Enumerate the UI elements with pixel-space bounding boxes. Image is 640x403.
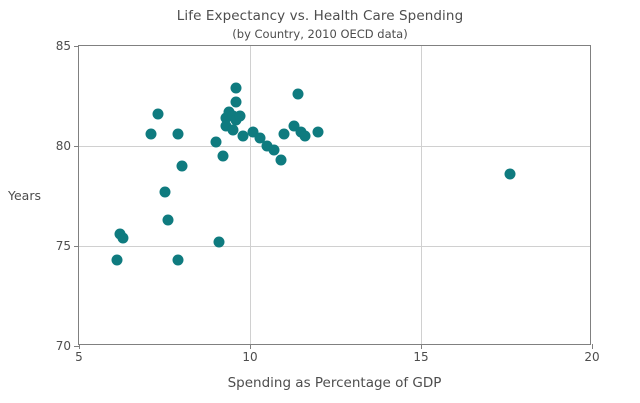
gridline-horizontal	[79, 146, 590, 147]
y-tick-label: 85	[56, 39, 71, 53]
chart-subtitle: (by Country, 2010 OECD data)	[0, 27, 640, 41]
scatter-point	[111, 255, 122, 266]
scatter-point	[214, 237, 225, 248]
scatter-point	[173, 255, 184, 266]
scatter-point	[152, 109, 163, 120]
scatter-point	[231, 97, 242, 108]
scatter-point	[217, 151, 228, 162]
scatter-point	[162, 215, 173, 226]
scatter-point	[118, 233, 129, 244]
x-tick-mark	[592, 344, 593, 349]
scatter-point	[313, 127, 324, 138]
scatter-point	[145, 129, 156, 140]
x-tick-label: 20	[584, 350, 599, 364]
page-title: Life Expectancy vs. Health Care Spending	[0, 8, 640, 24]
gridline-vertical	[250, 46, 251, 344]
scatter-point	[504, 169, 515, 180]
scatter-point	[299, 131, 310, 142]
y-tick-label: 70	[56, 339, 71, 353]
x-tick-mark	[79, 344, 80, 349]
x-tick-mark	[421, 344, 422, 349]
x-tick-label: 5	[75, 350, 83, 364]
x-axis-label: Spending as Percentage of GDP	[78, 375, 591, 391]
x-tick-label: 10	[242, 350, 257, 364]
y-tick-label: 80	[56, 139, 71, 153]
scatter-point	[173, 129, 184, 140]
gridline-vertical	[421, 46, 422, 344]
scatter-point	[159, 187, 170, 198]
scatter-point	[227, 125, 238, 136]
scatter-point	[268, 145, 279, 156]
y-tick-mark	[74, 246, 79, 247]
y-axis-label: Years	[8, 188, 41, 203]
scatter-point	[279, 129, 290, 140]
scatter-point	[275, 155, 286, 166]
chart-figure: Life Expectancy vs. Health Care Spending…	[0, 0, 640, 403]
y-tick-mark	[74, 146, 79, 147]
scatter-point	[210, 137, 221, 148]
x-tick-mark	[250, 344, 251, 349]
scatter-point	[231, 83, 242, 94]
scatter-point	[292, 89, 303, 100]
scatter-point	[176, 161, 187, 172]
x-tick-label: 15	[413, 350, 428, 364]
y-tick-mark	[74, 46, 79, 47]
y-tick-label: 75	[56, 239, 71, 253]
gridline-horizontal	[79, 246, 590, 247]
scatter-point	[234, 111, 245, 122]
plot-area: 707580855101520	[78, 45, 591, 345]
